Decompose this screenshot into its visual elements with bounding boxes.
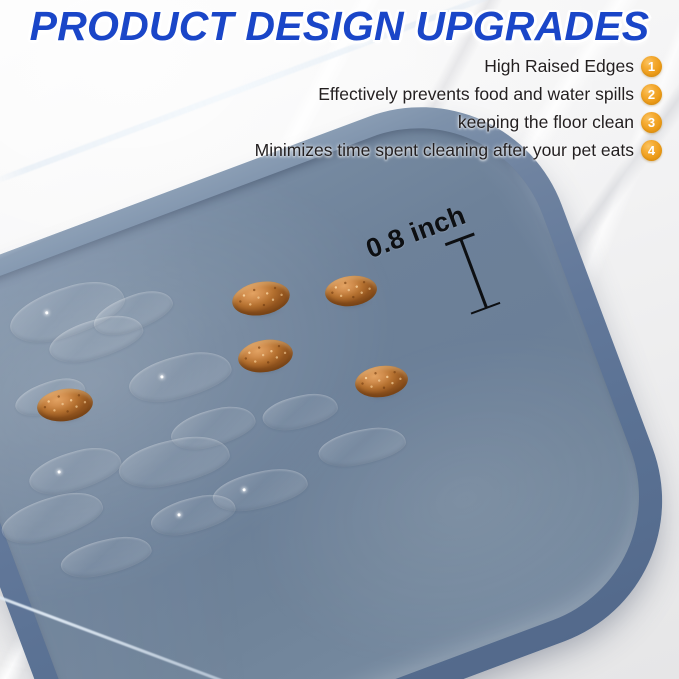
- kibble-piece: [35, 385, 95, 424]
- feature-number-badge: 2: [641, 84, 662, 105]
- feature-number-badge: 3: [641, 112, 662, 133]
- feature-item-4: Minimizes time spent cleaning after your…: [22, 138, 662, 163]
- kibble-piece: [323, 273, 378, 309]
- page-title-text: PRODUCT DESIGN UPGRADES: [30, 3, 650, 49]
- feature-label: High Raised Edges: [484, 56, 634, 77]
- dimension-stem: [459, 238, 487, 308]
- page-title: PRODUCT DESIGN UPGRADES: [0, 4, 679, 48]
- feature-item-3: keeping the floor clean3: [22, 110, 662, 135]
- title-kibble-letter-o: O: [87, 4, 119, 48]
- product-marketing-image: 0.8 inch PRODUCT DESIGN UPGRADES High Ra…: [0, 0, 679, 679]
- feature-list: High Raised Edges1Effectively prevents f…: [22, 54, 662, 166]
- tray-inner-wall: [0, 90, 677, 679]
- feature-item-1: High Raised Edges1: [22, 54, 662, 79]
- feature-label: Effectively prevents food and water spil…: [318, 84, 634, 105]
- feature-number-badge: 1: [641, 56, 662, 77]
- feature-label: keeping the floor clean: [458, 112, 634, 133]
- feature-number-badge: 4: [641, 140, 662, 161]
- feature-label: Minimizes time spent cleaning after your…: [255, 140, 634, 161]
- feature-item-2: Effectively prevents food and water spil…: [22, 82, 662, 107]
- kibble-piece: [353, 362, 410, 400]
